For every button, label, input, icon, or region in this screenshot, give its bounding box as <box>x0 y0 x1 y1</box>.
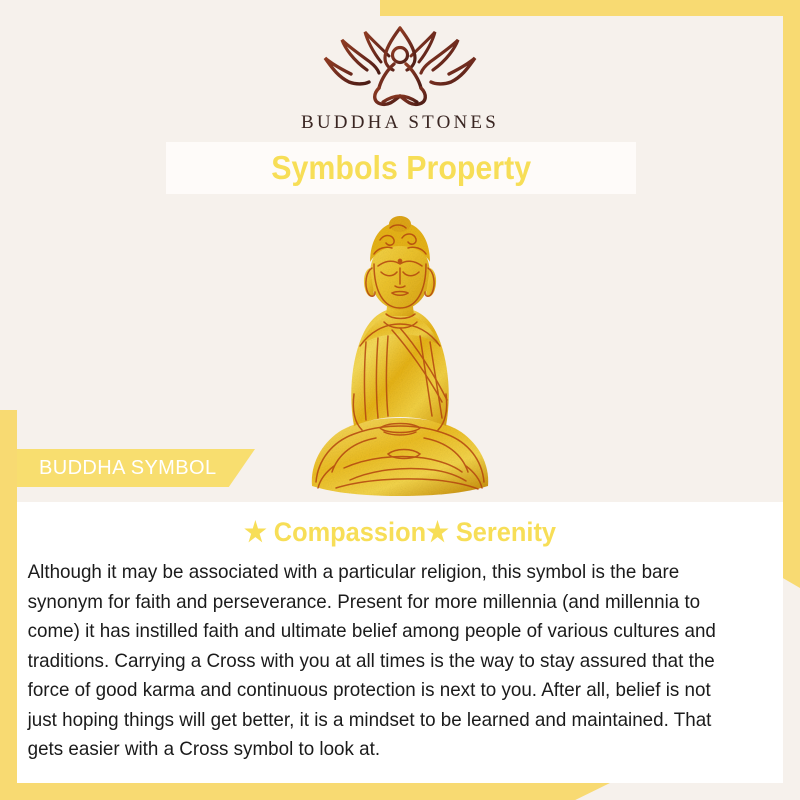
page-title: Symbols Property <box>271 149 531 187</box>
seated-golden-buddha-illustration <box>296 196 504 502</box>
tagline: ★ Compassion★ Serenity <box>40 502 760 548</box>
content-card: ★ Compassion★ Serenity Although it may b… <box>17 502 783 783</box>
page-root: BUDDHA STONES Symbols Property <box>0 0 800 800</box>
frame-bottom-bar <box>0 782 612 800</box>
brand-block: BUDDHA STONES <box>0 22 800 134</box>
buddha-symbol-ribbon: BUDDHA SYMBOL <box>17 449 255 487</box>
frame-left-bar <box>0 410 17 795</box>
title-banner: Symbols Property <box>166 142 636 194</box>
brand-name: BUDDHA STONES <box>0 112 800 134</box>
frame-top-right-bar <box>380 0 800 16</box>
body-paragraph: Although it may be associated with a par… <box>17 548 756 765</box>
lotus-meditation-icon <box>315 22 485 108</box>
frame-right-bar-tip <box>783 570 800 588</box>
ribbon-label: BUDDHA SYMBOL <box>17 457 216 480</box>
